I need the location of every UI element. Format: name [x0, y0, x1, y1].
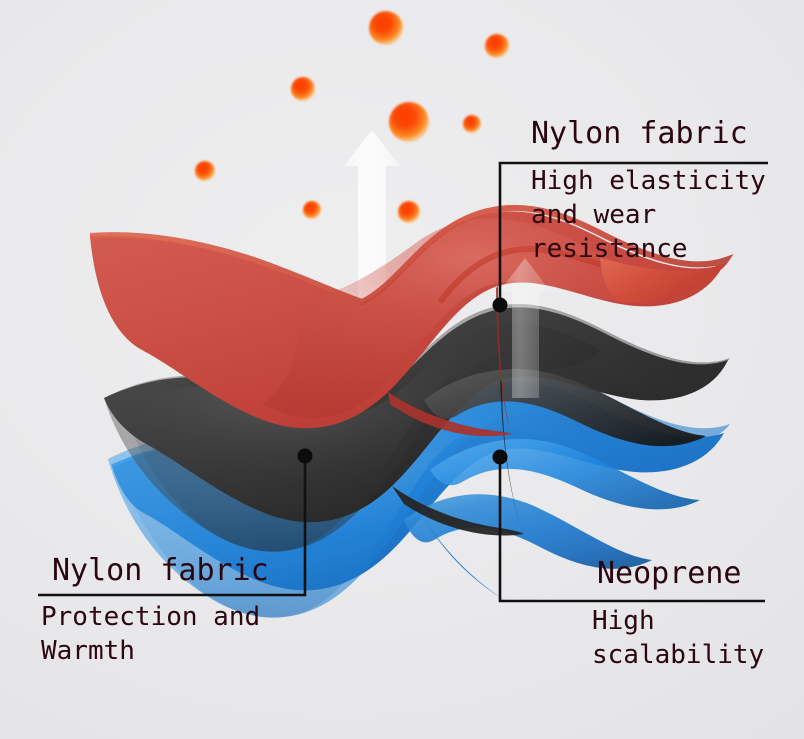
- heat-particle: [291, 77, 315, 101]
- callout-title-bottom-right: Neoprene: [597, 557, 742, 591]
- callout-title-bottom-left: Nylon fabric: [52, 554, 269, 588]
- heat-particle: [398, 201, 420, 223]
- heat-particle: [463, 115, 481, 133]
- heat-particle: [195, 161, 215, 181]
- heat-particle-group: [195, 11, 509, 223]
- callout-dot-bottom-right: [493, 450, 508, 465]
- heat-particle: [369, 11, 403, 45]
- callout-dot-bottom-left: [298, 449, 313, 464]
- callout-dot-top-right: [493, 298, 508, 313]
- callout-description-top-right: High elasticity and wear resistance: [531, 164, 766, 266]
- callout-title-top-right: Nylon fabric: [531, 117, 748, 151]
- callout-description-bottom-left: Protection and Warmth: [41, 600, 260, 668]
- callout-description-bottom-right: High scalability: [592, 604, 764, 672]
- heat-particle: [389, 102, 429, 142]
- diagram-canvas: Nylon fabric High elasticity and wear re…: [0, 0, 804, 739]
- heat-particle: [485, 34, 509, 58]
- heat-particle: [303, 201, 321, 219]
